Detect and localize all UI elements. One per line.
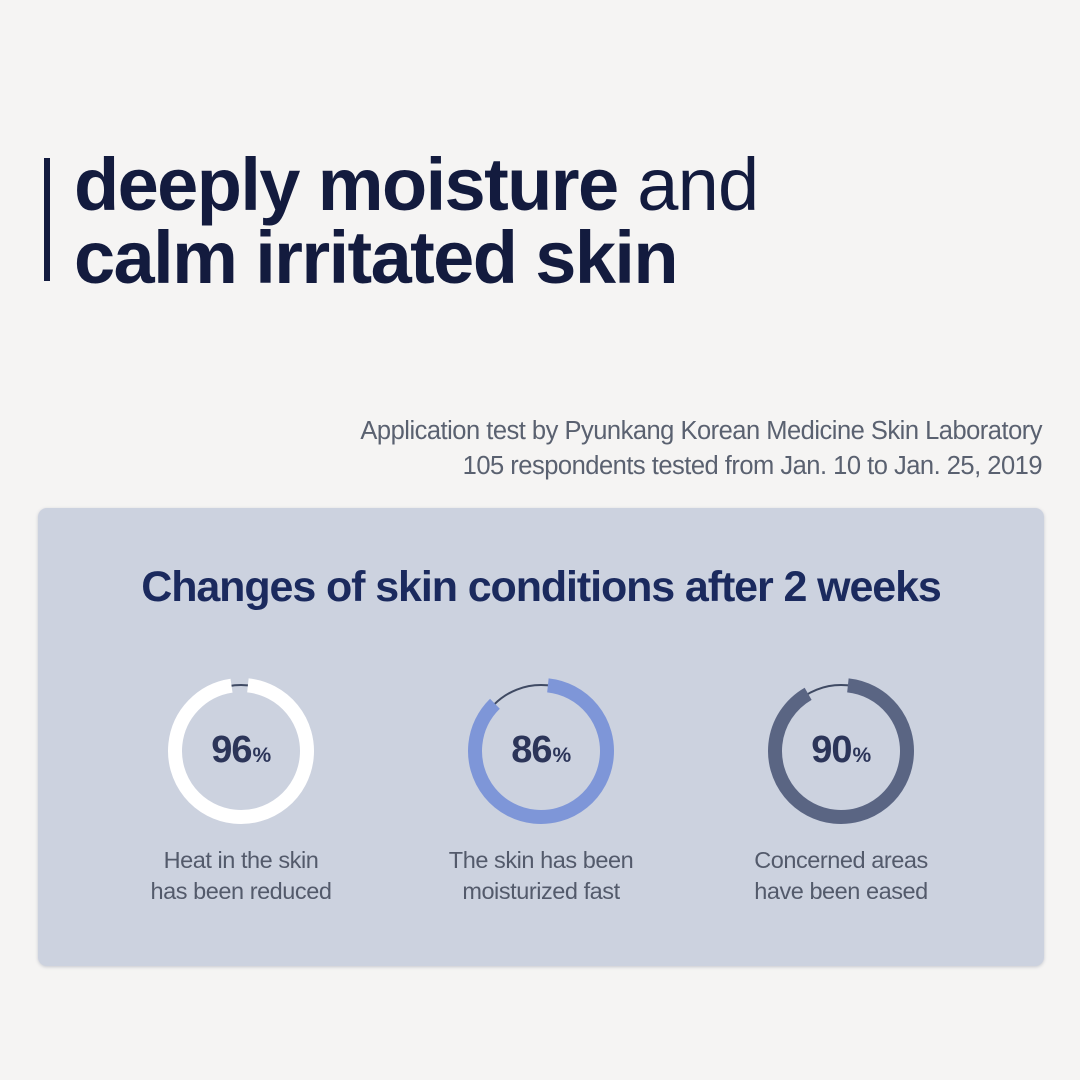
donut-label-1-line-1: Heat in the skin (151, 845, 332, 876)
donut-chart-2: 86% (465, 675, 617, 827)
headline-line-1-light: and (618, 143, 759, 226)
donut-label-3-line-1: Concerned areas (754, 845, 928, 876)
donut-value-number-2: 86 (511, 729, 551, 771)
donut-percent-symbol-2: % (553, 744, 571, 767)
donut-chart-3: 90% (765, 675, 917, 827)
donut-item-2: 86% The skin has been moisturized fast (406, 675, 676, 907)
donut-label-3-line-2: have been eased (754, 876, 928, 907)
donut-percent-symbol-3: % (853, 744, 871, 767)
donut-chart-row: 96% Heat in the skin has been reduced 86… (106, 675, 976, 907)
donut-chart-1: 96% (165, 675, 317, 827)
study-subtitle: Application test by Pyunkang Korean Medi… (360, 414, 1042, 484)
donut-item-3: 90% Concerned areas have been eased (706, 675, 976, 907)
subtitle-line-1: Application test by Pyunkang Korean Medi… (360, 414, 1042, 449)
donut-label-2-line-1: The skin has been (449, 845, 633, 876)
donut-value-1: 96% (165, 731, 317, 769)
donut-value-3: 90% (765, 731, 917, 769)
donut-label-2: The skin has been moisturized fast (449, 845, 633, 907)
headline-block: deeply moisture and calm irritated skin (44, 148, 758, 295)
page-title: deeply moisture and calm irritated skin (50, 148, 758, 295)
donut-item-1: 96% Heat in the skin has been reduced (106, 675, 376, 907)
donut-label-1-line-2: has been reduced (151, 876, 332, 907)
results-panel: Changes of skin conditions after 2 weeks… (38, 508, 1044, 966)
donut-value-number-3: 90 (811, 729, 851, 771)
donut-value-number-1: 96 (211, 729, 251, 771)
headline-line-1-bold: deeply moisture (74, 143, 618, 226)
donut-value-2: 86% (465, 731, 617, 769)
headline-line-2: calm irritated skin (74, 221, 758, 294)
subtitle-line-2: 105 respondents tested from Jan. 10 to J… (360, 449, 1042, 484)
donut-label-3: Concerned areas have been eased (754, 845, 928, 907)
donut-percent-symbol-1: % (253, 744, 271, 767)
donut-label-2-line-2: moisturized fast (449, 876, 633, 907)
panel-heading: Changes of skin conditions after 2 weeks (38, 563, 1044, 612)
donut-label-1: Heat in the skin has been reduced (151, 845, 332, 907)
headline-line-1: deeply moisture and (74, 148, 758, 221)
